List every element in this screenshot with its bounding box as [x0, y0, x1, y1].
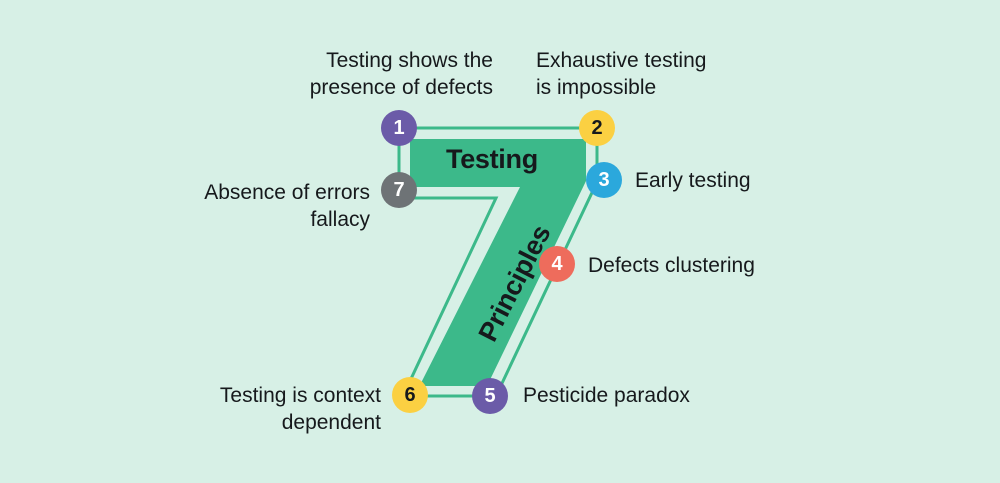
principle-badge-2[interactable]: 2 [579, 110, 615, 146]
principle-badge-3[interactable]: 3 [586, 162, 622, 198]
principle-badge-1[interactable]: 1 [381, 110, 417, 146]
principle-label-4: Defects clustering [588, 252, 888, 279]
principle-label-3: Early testing [635, 167, 915, 194]
principle-badge-5[interactable]: 5 [472, 378, 508, 414]
principle-label-1: Testing shows the presence of defects [233, 47, 493, 101]
principle-badge-6[interactable]: 6 [392, 377, 428, 413]
principle-badge-7[interactable]: 7 [381, 172, 417, 208]
principle-badge-4[interactable]: 4 [539, 246, 575, 282]
numeral-word-testing: Testing [446, 144, 538, 175]
principle-label-2: Exhaustive testing is impossible [536, 47, 816, 101]
principle-label-6: Testing is context dependent [139, 382, 381, 436]
infographic-canvas: Testing Principles Testing shows the pre… [0, 0, 1000, 483]
principle-label-5: Pesticide paradox [523, 382, 823, 409]
principle-label-7: Absence of errors fallacy [135, 179, 370, 233]
